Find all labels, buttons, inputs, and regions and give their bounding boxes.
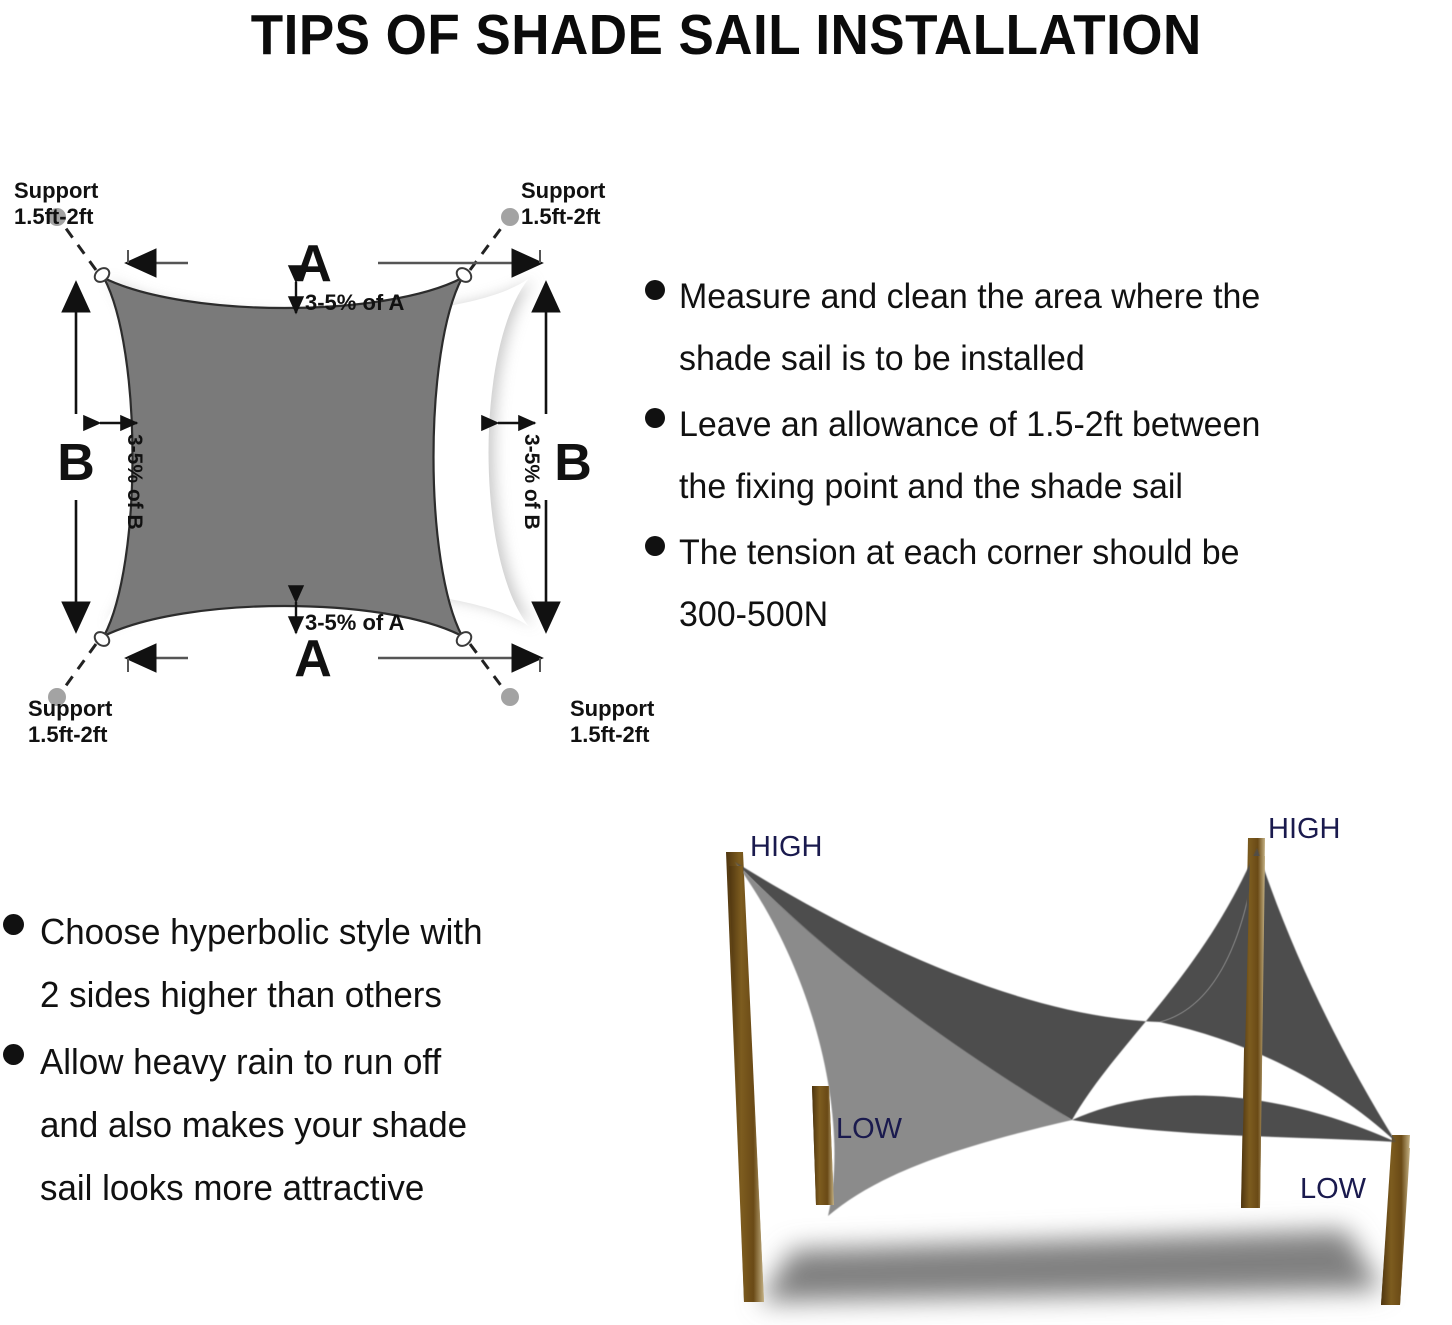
support-label-top-right: Support 1.5ft-2ft	[521, 178, 606, 229]
dimension-letter-top: A	[294, 235, 332, 293]
callout-right: 3-5% of B	[498, 423, 543, 530]
tip-text: Leave an allowance of 1.5-2ft between th…	[679, 394, 1260, 518]
hyperbolic-sail-diagram: HIGH HIGH LOW LOW	[640, 790, 1452, 1325]
tip-text: Allow heavy rain to run off and also mak…	[40, 1030, 467, 1219]
tip-text: The tension at each corner should be 300…	[679, 522, 1240, 646]
tip-text: Choose hyperbolic style with 2 sides hig…	[40, 900, 483, 1026]
bullet-icon	[3, 914, 24, 935]
support-dot-bottom-right	[501, 688, 519, 706]
corner-label-low-left: LOW	[836, 1113, 903, 1145]
bullet-icon	[645, 280, 665, 300]
hyperbolic-style-tips-list: Choose hyperbolic style with 2 sides hig…	[3, 900, 623, 1223]
post-low-right-front	[1381, 1148, 1410, 1305]
support-line-top-right	[470, 208, 519, 270]
support-line-bottom-right	[470, 644, 519, 706]
rectangular-sail-diagram: Support 1.5ft-2ft Support 1.5ft-2ft Supp…	[0, 150, 660, 750]
list-item: Allow heavy rain to run off and also mak…	[3, 1030, 623, 1219]
list-item: The tension at each corner should be 300…	[645, 522, 1452, 646]
svg-text:Support: Support	[521, 178, 606, 203]
callout-left: 3-5% of B	[100, 423, 146, 530]
bullet-icon	[3, 1044, 24, 1065]
dimension-left-b: B	[57, 284, 95, 630]
page-title: TIPS OF SHADE SAIL INSTALLATION	[251, 7, 1202, 64]
callout-left-label: 3-5% of B	[123, 434, 146, 530]
support-label-top-left: Support 1.5ft-2ft	[14, 178, 99, 229]
bullet-icon	[645, 536, 665, 556]
support-label-bottom-left: Support 1.5ft-2ft	[28, 696, 113, 747]
svg-text:Support: Support	[28, 696, 113, 721]
svg-text:Support: Support	[570, 696, 655, 721]
title-bar: TIPS OF SHADE SAIL INSTALLATION	[0, 0, 1452, 70]
dimension-right-b: B	[546, 284, 592, 630]
svg-text:1.5ft-2ft: 1.5ft-2ft	[28, 722, 108, 747]
list-item: Measure and clean the area where the sha…	[645, 266, 1452, 390]
support-label-bottom-right: Support 1.5ft-2ft	[570, 696, 655, 747]
dimension-letter-left: B	[57, 434, 95, 492]
support-dot-top-right	[501, 208, 519, 226]
svg-text:Support: Support	[14, 178, 99, 203]
callout-right-label: 3-5% of B	[520, 434, 543, 530]
corner-label-low-right: LOW	[1300, 1173, 1367, 1205]
dimension-top-a: A	[128, 235, 540, 293]
ground-shadow	[760, 1230, 1382, 1302]
corner-label-high-left: HIGH	[750, 831, 823, 863]
callout-bottom-label: 3-5% of A	[305, 610, 405, 635]
bullet-icon	[645, 408, 665, 428]
tip-text: Measure and clean the area where the sha…	[679, 266, 1260, 390]
callout-top-label: 3-5% of A	[305, 290, 405, 315]
list-item: Choose hyperbolic style with 2 sides hig…	[3, 900, 623, 1026]
dimension-bottom-a: A	[128, 630, 540, 688]
post-low-left-front	[812, 1086, 834, 1205]
installation-tips-list: Measure and clean the area where the sha…	[645, 266, 1452, 650]
shade-sail-shape	[104, 278, 462, 636]
list-item: Leave an allowance of 1.5-2ft between th…	[645, 394, 1452, 518]
svg-text:1.5ft-2ft: 1.5ft-2ft	[570, 722, 650, 747]
corner-label-high-right: HIGH	[1268, 813, 1341, 845]
svg-text:1.5ft-2ft: 1.5ft-2ft	[14, 204, 94, 229]
dimension-letter-bottom: A	[294, 630, 332, 688]
svg-text:1.5ft-2ft: 1.5ft-2ft	[521, 204, 601, 229]
dimension-letter-right: B	[554, 434, 592, 492]
